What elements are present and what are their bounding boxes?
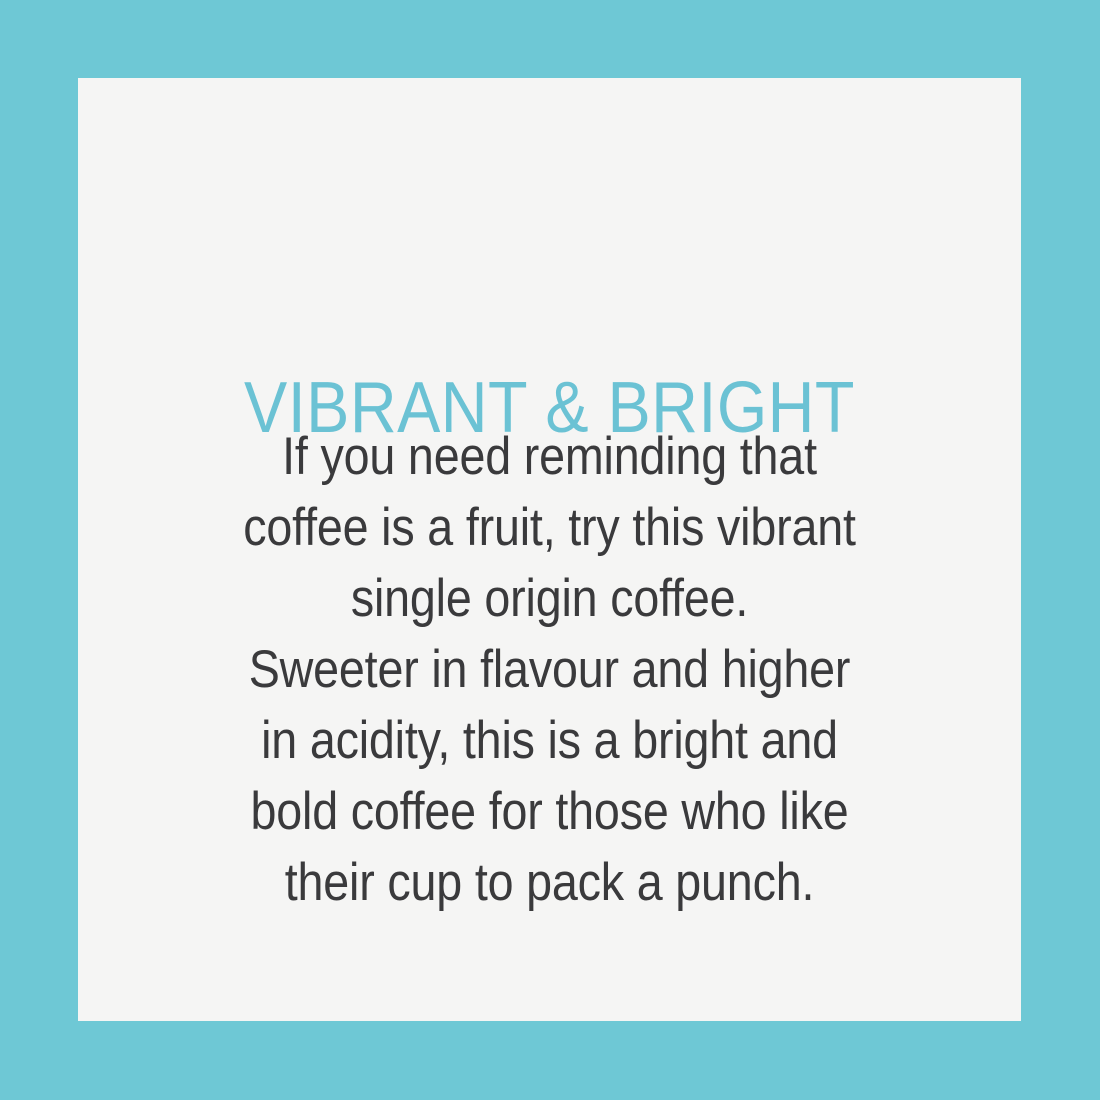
description-line: If you need reminding that xyxy=(135,421,965,492)
description-line: Sweeter in flavour and higher xyxy=(135,634,965,705)
description-paragraph: If you need reminding that coffee is a f… xyxy=(135,421,965,918)
description-line: single origin coffee. xyxy=(135,563,965,634)
description-line: in acidity, this is a bright and xyxy=(135,705,965,776)
description-line: coffee is a fruit, try this vibrant xyxy=(135,492,965,563)
content-panel: VIBRANT & BRIGHT If you need reminding t… xyxy=(78,78,1021,1021)
product-description-card: VIBRANT & BRIGHT If you need reminding t… xyxy=(0,0,1100,1100)
description-line: their cup to pack a punch. xyxy=(135,847,965,918)
description-line: bold coffee for those who like xyxy=(135,776,965,847)
